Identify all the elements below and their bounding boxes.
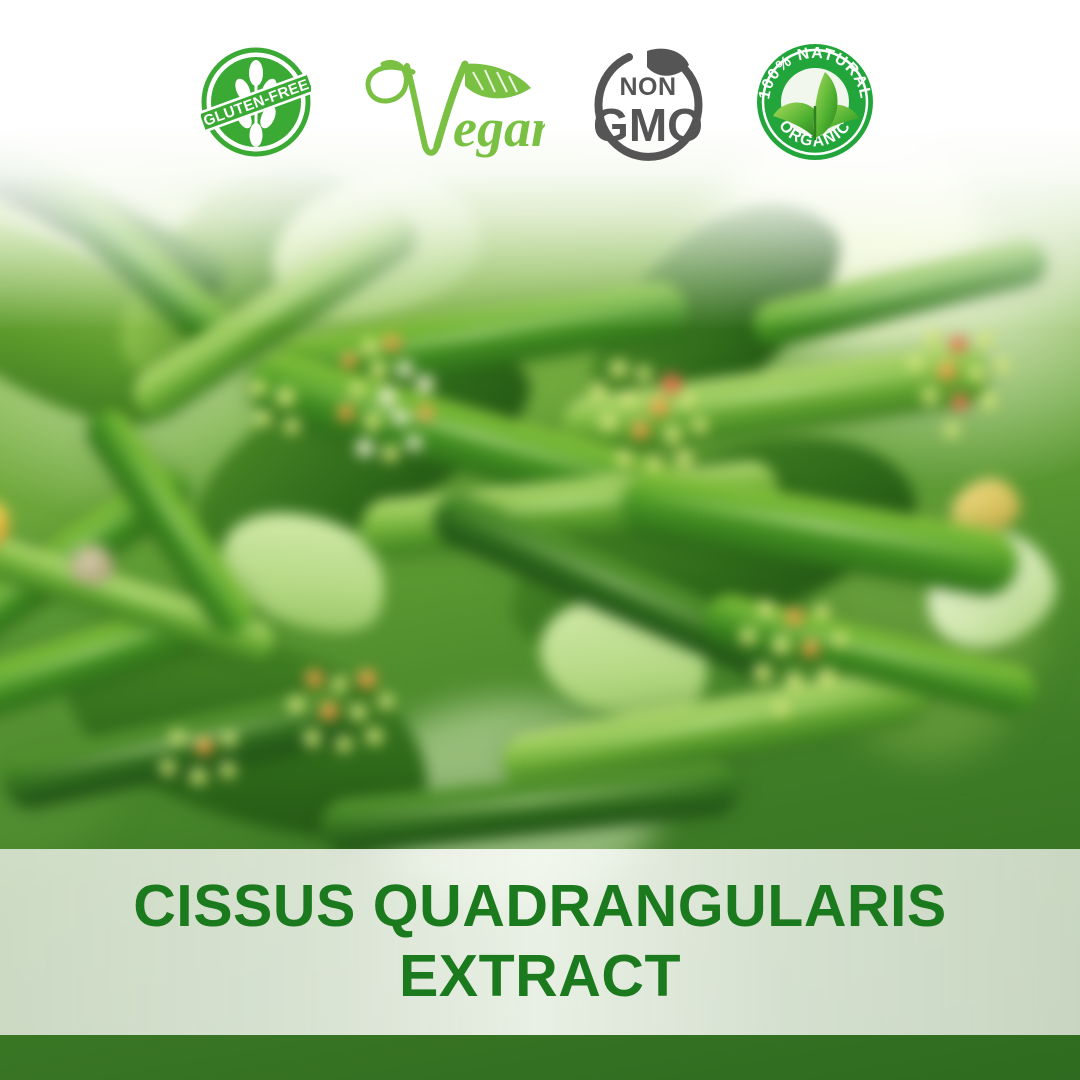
- title-band: CISSUS QUADRANGULARIS EXTRACT: [0, 849, 1080, 1035]
- stem-node: [70, 545, 114, 585]
- gluten-free-badge[interactable]: GLUTEN-FREE: [201, 47, 311, 157]
- product-title-line-2: EXTRACT: [399, 942, 681, 1012]
- vegan-leaf-script-logo-icon: egan: [355, 42, 545, 162]
- flower-berry-cluster: [150, 730, 270, 840]
- gluten-free-badge-icon: GLUTEN-FREE: [201, 47, 311, 157]
- non-gmo-badge[interactable]: NON GMO: [589, 41, 707, 163]
- flower-berry-cluster: [730, 600, 890, 750]
- non-gmo-badge-text: NON GMO: [589, 75, 707, 148]
- vegan-badge[interactable]: egan: [355, 42, 545, 162]
- flower-berry-cluster: [330, 335, 490, 485]
- flower-berry-cluster: [900, 330, 1040, 470]
- certification-badge-row: GLUTEN-FREE egan: [0, 36, 1080, 168]
- vegan-badge-label: egan: [453, 98, 545, 158]
- organic-natural-badge-icon: 100% NATURAL ORGANIC: [751, 42, 879, 162]
- organic-badge[interactable]: 100% NATURAL ORGANIC: [751, 42, 879, 162]
- flower-berry-cluster: [280, 670, 430, 800]
- product-label-canvas: GLUTEN-FREE egan: [0, 0, 1080, 1080]
- non-gmo-badge-label-top: NON: [589, 75, 707, 100]
- product-title-line-1: CISSUS QUADRANGULARIS: [133, 872, 947, 942]
- flower-berry-cluster: [580, 360, 750, 510]
- flower-berry-cluster: [240, 380, 330, 470]
- non-gmo-badge-label-bottom: GMO: [589, 102, 707, 148]
